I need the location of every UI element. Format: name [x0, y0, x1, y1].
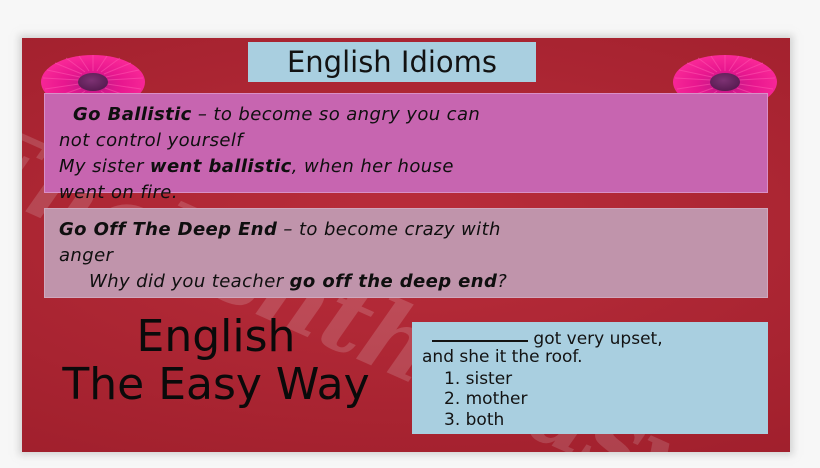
- idiom-definition-part-2: not control yourself: [59, 128, 753, 154]
- idiom-definition-line: Go Off The Deep End – to become crazy wi…: [59, 217, 753, 243]
- quiz-blank[interactable]: [432, 340, 528, 342]
- quiz-box: got very upset, and she it the roof. 1. …: [412, 322, 768, 434]
- quiz-options-list: 1. sister 2. mother 3. both: [422, 369, 758, 430]
- idiom-dash: –: [192, 104, 214, 125]
- idiom-example-line-2: went on fire.: [59, 180, 753, 206]
- idiom-term: Go Ballistic: [73, 104, 192, 125]
- quiz-question: got very upset, and she it the roof.: [422, 330, 758, 367]
- quiz-question-line-1: got very upset,: [422, 330, 758, 348]
- idiom-definition-part-1: to become crazy with: [299, 219, 501, 240]
- idiom-card-go-ballistic: Go Ballistic – to become so angry you ca…: [44, 93, 768, 193]
- page-title: English Idioms: [287, 48, 497, 77]
- idiom-example-suffix: ?: [497, 271, 507, 292]
- idiom-example-line: Why did you teacher go off the deep end?: [59, 269, 753, 295]
- idiom-example-bold: went ballistic: [150, 156, 292, 177]
- quiz-option-1[interactable]: 1. sister: [444, 369, 758, 389]
- quiz-option-3[interactable]: 3. both: [444, 410, 758, 430]
- brand-line-the-easy-way: The Easy Way: [30, 361, 402, 409]
- idiom-dash: –: [277, 219, 299, 240]
- idiom-example-line: My sister went ballistic, when her house: [59, 154, 753, 180]
- brand-block: English The Easy Way: [30, 313, 402, 408]
- idiom-term: Go Off The Deep End: [59, 219, 277, 240]
- idiom-definition-part-2: anger: [59, 243, 753, 269]
- idiom-definition-line: Go Ballistic – to become so angry you ca…: [59, 102, 753, 128]
- brand-line-english: English: [30, 313, 402, 361]
- screenshot-canvas: Englishtheeasyway.com: [0, 0, 820, 468]
- quiz-question-text-1: got very upset,: [533, 329, 662, 349]
- idiom-example-suffix: , when her house: [292, 156, 454, 177]
- idiom-definition-part-1: to become so angry you can: [213, 104, 480, 125]
- idiom-card-go-off-the-deep-end: Go Off The Deep End – to become crazy wi…: [44, 208, 768, 298]
- quiz-option-2[interactable]: 2. mother: [444, 389, 758, 409]
- idiom-example-bold: go off the deep end: [290, 271, 498, 292]
- idiom-example-prefix: Why did you teacher: [89, 271, 290, 292]
- poster-title-box: English Idioms: [248, 42, 536, 82]
- idiom-example-prefix: My sister: [59, 156, 150, 177]
- quiz-question-line-2: and she it the roof.: [422, 348, 758, 366]
- english-idioms-poster: Englishtheeasyway.com: [22, 38, 790, 452]
